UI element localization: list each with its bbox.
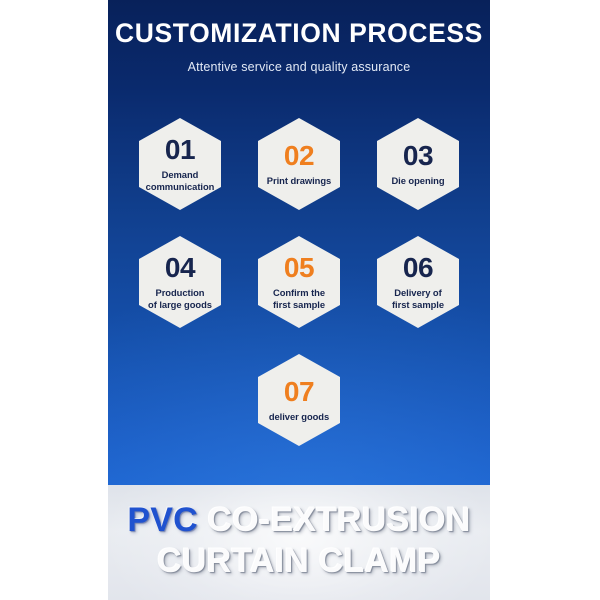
- step-number: 02: [284, 142, 314, 170]
- process-step-03[interactable]: 03 Die opening: [377, 118, 459, 210]
- step-number: 07: [284, 378, 314, 406]
- page-subtitle: Attentive service and quality assurance: [108, 60, 490, 74]
- step-label: Print drawings: [267, 175, 331, 186]
- step-number: 04: [165, 254, 195, 282]
- process-step-07[interactable]: 07 deliver goods: [258, 354, 340, 446]
- step-label: deliver goods: [269, 411, 329, 422]
- step-label: Demand communication: [146, 169, 215, 191]
- process-step-06[interactable]: 06 Delivery of first sample: [377, 236, 459, 328]
- process-step-02[interactable]: 02 Print drawings: [258, 118, 340, 210]
- banner-line-one-rest: CO-EXTRUSION: [198, 501, 471, 539]
- banner-line-two: CURTAIN CLAMP: [108, 544, 490, 578]
- process-step-04[interactable]: 04 Production of large goods: [139, 236, 221, 328]
- step-number: 06: [403, 254, 433, 282]
- banner-line-one: PVC CO-EXTRUSION: [108, 503, 490, 537]
- process-panel: CUSTOMIZATION PROCESS Attentive service …: [108, 0, 490, 485]
- brand-label: PVC: [127, 501, 198, 539]
- step-number: 03: [403, 142, 433, 170]
- step-number: 05: [284, 254, 314, 282]
- product-title-banner: PVC CO-EXTRUSION CURTAIN CLAMP: [108, 485, 490, 600]
- step-label: Die opening: [391, 175, 444, 186]
- page-title: CUSTOMIZATION PROCESS: [108, 18, 490, 49]
- page-root: CUSTOMIZATION PROCESS Attentive service …: [0, 0, 600, 600]
- step-label: Confirm the first sample: [273, 287, 325, 309]
- step-label: Delivery of first sample: [392, 287, 444, 309]
- process-step-05[interactable]: 05 Confirm the first sample: [258, 236, 340, 328]
- process-step-01[interactable]: 01 Demand communication: [139, 118, 221, 210]
- step-label: Production of large goods: [148, 287, 212, 309]
- step-number: 01: [165, 136, 195, 164]
